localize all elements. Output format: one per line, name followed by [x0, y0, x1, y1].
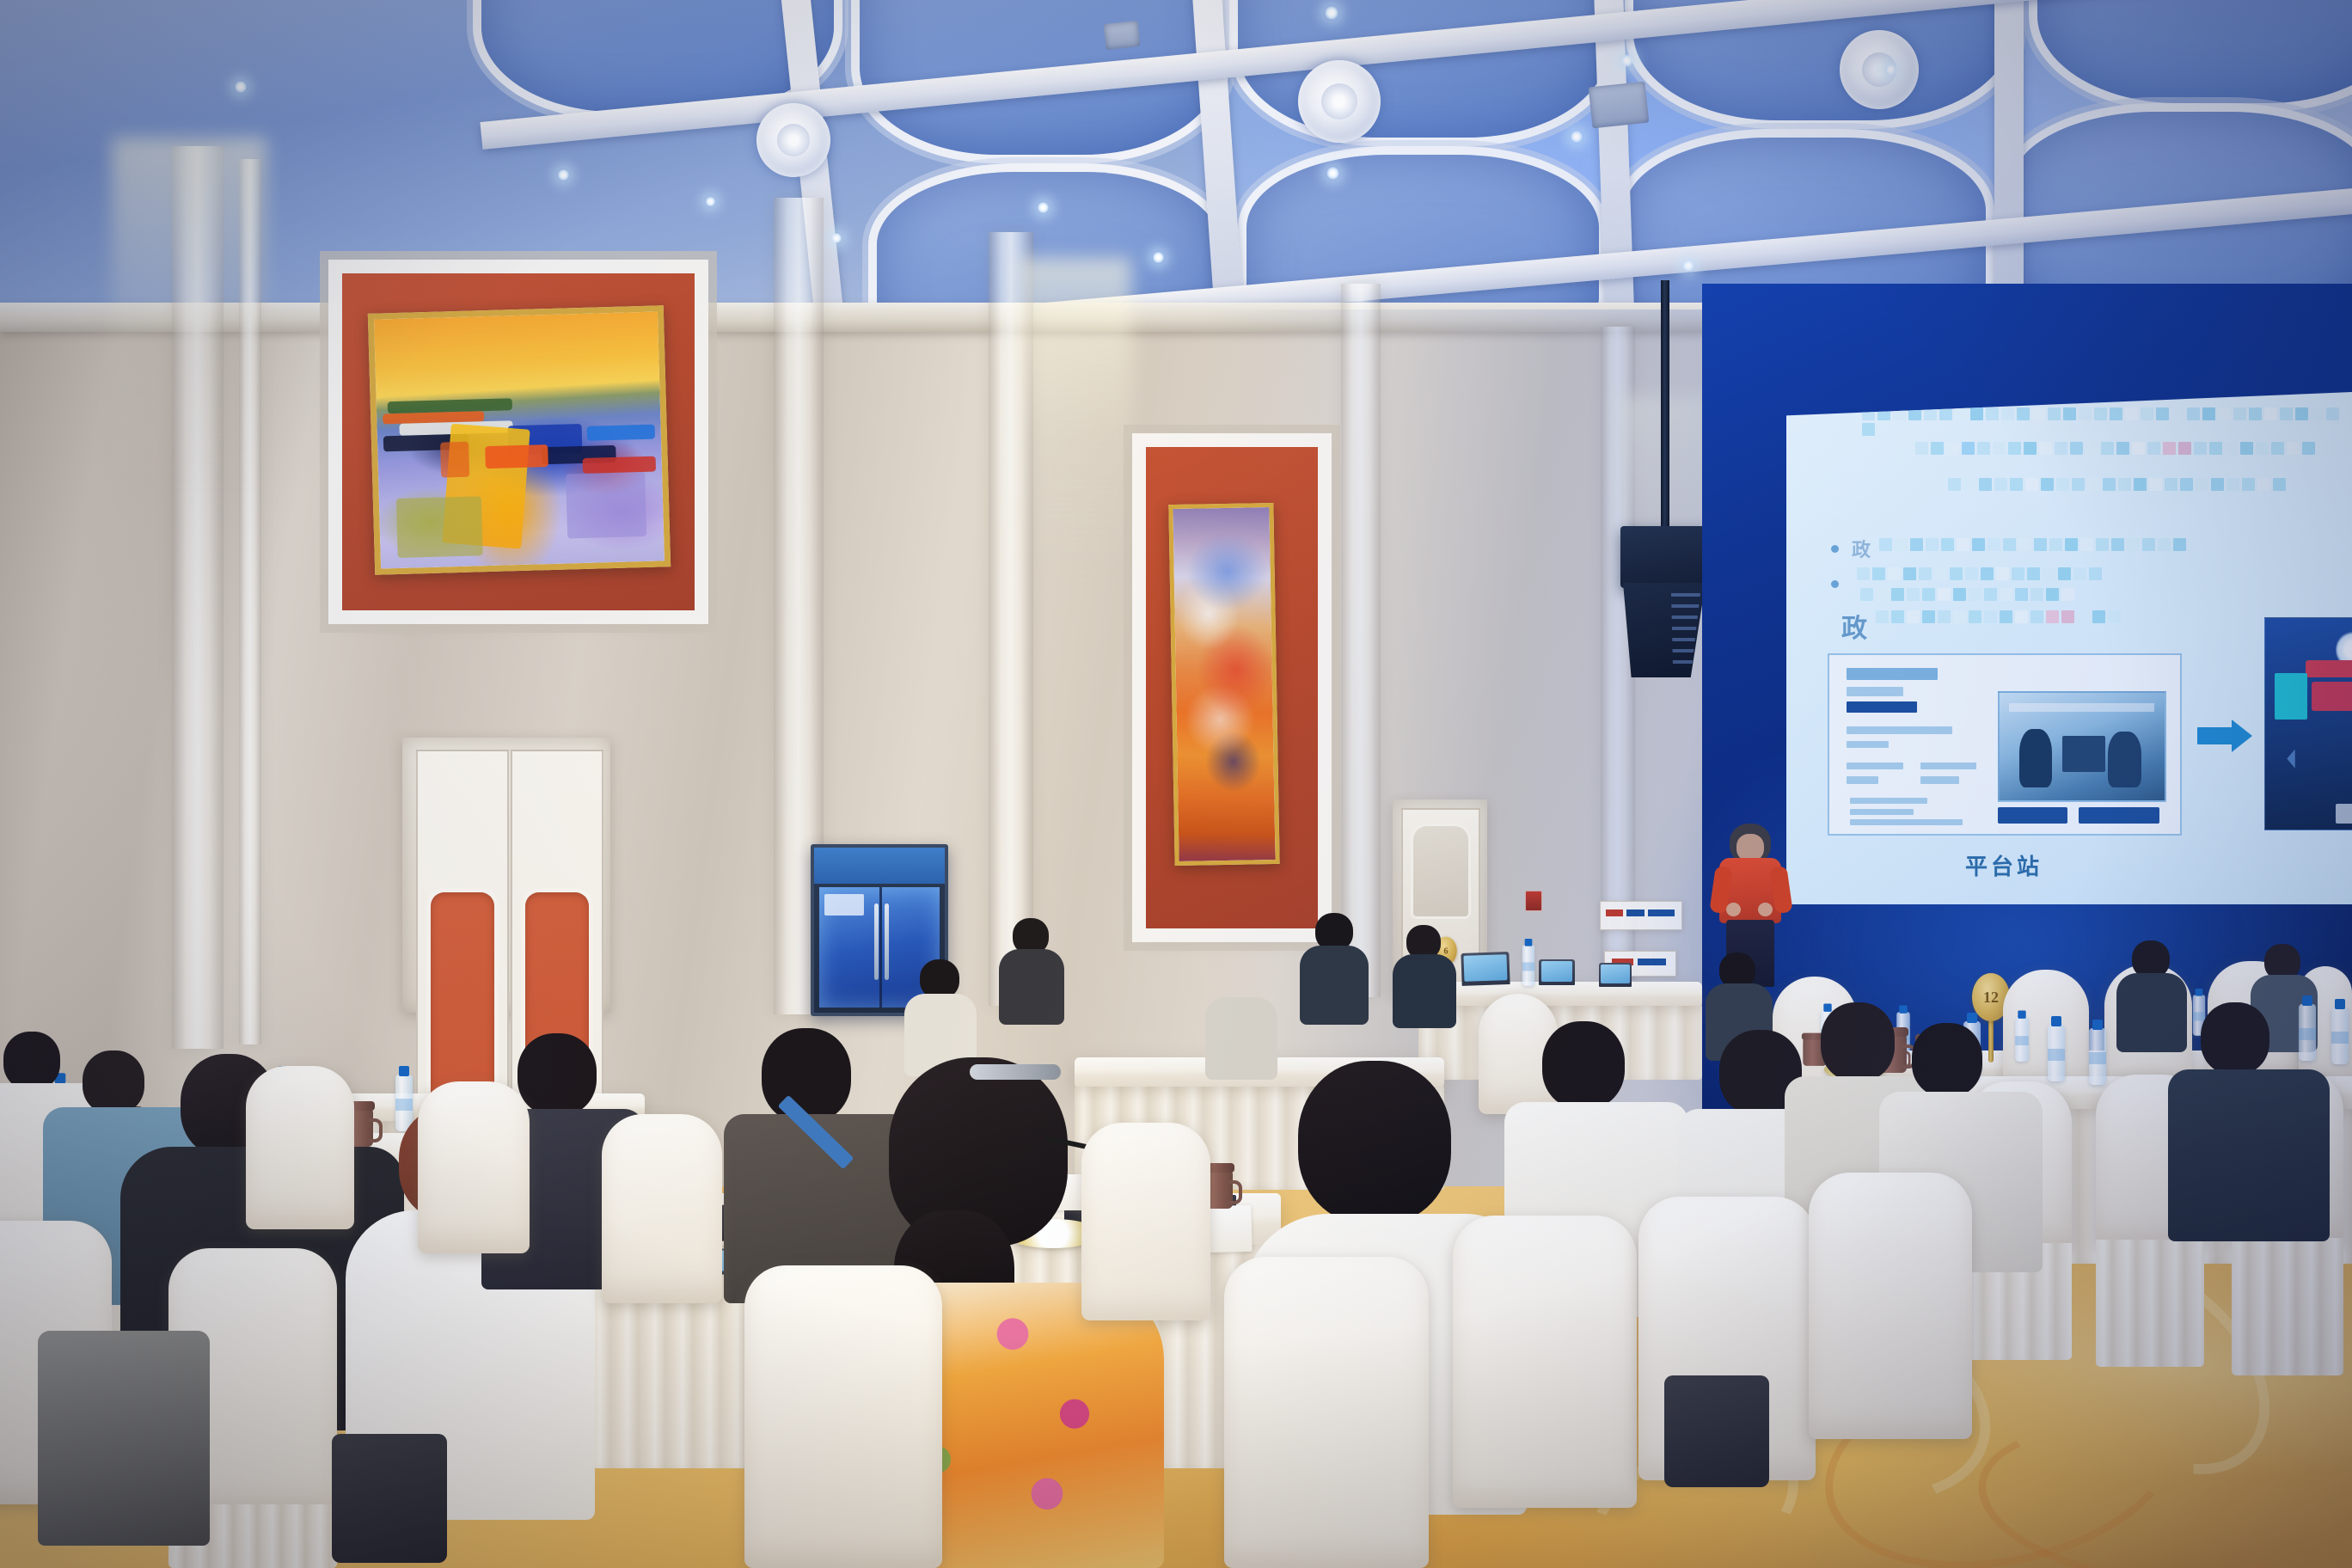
- ceiling-downlight: [1620, 53, 1634, 68]
- projection-screen: 政: [1786, 392, 2352, 904]
- water-bottle[interactable]: [2299, 1004, 2316, 1061]
- ceiling-speaker-grille: [1589, 82, 1650, 129]
- card-sub-text: [1847, 687, 1902, 695]
- ceiling-rosette: [756, 103, 830, 177]
- conference-hall-photo: 政: [0, 0, 2352, 1568]
- slide-headline-cn: 政: [1841, 607, 1867, 645]
- ceiling-line-array-speaker: [1661, 280, 1669, 538]
- fridge-header-band: [814, 848, 945, 884]
- water-bottle[interactable]: [2048, 1025, 2065, 1081]
- card-badge: [1847, 701, 1917, 712]
- person-head: [83, 1050, 144, 1114]
- card-list-item: [1850, 809, 1913, 815]
- water-bottle[interactable]: [1522, 945, 1534, 986]
- banquet-chair[interactable]: [602, 1114, 722, 1303]
- ceiling-rosette: [1840, 30, 1919, 109]
- slide-mosaic-line3: [1948, 478, 2326, 491]
- ceiling-downlight: [705, 196, 716, 207]
- water-bottle[interactable]: [2015, 1017, 2029, 1061]
- slide-mosaic-headline: [1876, 610, 2168, 623]
- card-list-item: [1850, 819, 1963, 825]
- chair-skirt: [2232, 1238, 2343, 1375]
- slide-mosaic-title: [1862, 407, 2343, 436]
- slide-button-details: [2079, 807, 2159, 824]
- person-torso: [1393, 954, 1456, 1028]
- table-number-label: 12: [1983, 989, 1999, 1007]
- water-bottle[interactable]: [395, 1075, 413, 1131]
- card-title-text: [1847, 668, 1938, 681]
- water-bottle[interactable]: [2331, 1008, 2349, 1064]
- person-head: [1821, 1002, 1895, 1081]
- banquet-chair[interactable]: [1224, 1257, 1429, 1568]
- person-head: [1298, 1061, 1451, 1224]
- door-panel-upper: [1413, 826, 1467, 917]
- av-laptop[interactable]: [1461, 952, 1510, 986]
- ceiling-downlight: [557, 168, 570, 181]
- table-number-label: 6: [1443, 946, 1448, 956]
- person-head: [1912, 1023, 1982, 1097]
- handbag[interactable]: [1664, 1375, 1769, 1487]
- wall-light-wash: [1020, 258, 1131, 585]
- ceiling-downlight: [1152, 251, 1165, 264]
- slide-arrow-shaft: [2197, 727, 2233, 744]
- painting-canvas-vertical: [1173, 507, 1275, 861]
- card-col-val: [1847, 776, 1878, 783]
- presenter-hand-left: [1726, 903, 1741, 916]
- presenter: [1704, 824, 1807, 987]
- person-torso: [2116, 973, 2187, 1052]
- fridge-door-divider: [879, 887, 882, 1008]
- ceiling-speaker-grille: [1104, 21, 1141, 50]
- person-head: [3, 1032, 60, 1090]
- ceiling-downlight: [830, 232, 842, 244]
- person-torso: [1300, 946, 1369, 1025]
- fridge-handle-icon[interactable]: [885, 903, 889, 979]
- person-head: [1542, 1021, 1625, 1109]
- ceiling-downlight: [1570, 130, 1583, 144]
- fridge-label-sticker: [824, 894, 864, 916]
- av-laptop[interactable]: [1599, 963, 1632, 987]
- banquet-chair[interactable]: [418, 1081, 530, 1253]
- abstract-landscape-painting: [368, 305, 671, 574]
- pa-speaker-body: [1620, 526, 1706, 588]
- banquet-chair[interactable]: [1453, 1216, 1637, 1508]
- av-laptop[interactable]: [1539, 959, 1575, 985]
- person-head: [518, 1033, 597, 1116]
- presenter-hand-right: [1758, 903, 1773, 916]
- ceiling-downlight: [234, 80, 248, 94]
- slide-button-book-now: [1998, 807, 2068, 824]
- ceiling-downlight: [1883, 62, 1898, 77]
- slide-bullet-2: [1831, 580, 1839, 588]
- handbag[interactable]: [332, 1434, 447, 1563]
- person-head: [2201, 1002, 2269, 1075]
- ceiling-downlight: [1324, 5, 1339, 21]
- ceiling-rosette: [1298, 60, 1381, 143]
- hair-clip: [970, 1064, 1061, 1080]
- banquet-chair[interactable]: [246, 1066, 354, 1229]
- slide-mosaic-bullet-1: [1879, 538, 2223, 551]
- card-line: [1847, 726, 1951, 733]
- person-head: [762, 1028, 851, 1123]
- person-torso: [999, 949, 1064, 1025]
- card-col-head: [1920, 763, 1976, 769]
- backpack-on-chair[interactable]: [38, 1331, 210, 1546]
- banquet-chair[interactable]: [1081, 1123, 1210, 1320]
- ceiling-downlight: [1326, 166, 1340, 181]
- slide-screenshot-left-photo: [1998, 691, 2166, 802]
- slide-mosaic-bullet-2: [1860, 588, 2118, 601]
- card-col-val: [1920, 776, 1959, 783]
- chair-skirt: [2096, 1240, 2204, 1367]
- person-torso: [1205, 997, 1277, 1080]
- person-torso: [2168, 1069, 2330, 1241]
- slide-arrow-head-icon: [2232, 720, 2252, 752]
- card-list-item: [1850, 798, 1927, 804]
- banquet-chair[interactable]: [744, 1265, 942, 1568]
- wall-light-wash: [112, 138, 266, 499]
- card-line: [1847, 741, 1889, 748]
- fridge-handle-icon[interactable]: [874, 903, 879, 979]
- ceiling-downlight: [1681, 259, 1695, 273]
- slide-bullet-1: [1831, 545, 1839, 553]
- water-bottle[interactable]: [2089, 1028, 2106, 1085]
- banquet-chair[interactable]: [1809, 1173, 1972, 1439]
- painting-canvas-landscape: [374, 311, 665, 568]
- fire-alarm-box[interactable]: [1525, 891, 1542, 911]
- card-col-head: [1847, 763, 1902, 769]
- slide-mosaic-bullet-1b: [1857, 567, 2141, 580]
- slide-screenshot-booking-card: [1828, 653, 2182, 836]
- slide-bullet-cn-1: 政: [1852, 535, 1871, 562]
- slide-mosaic-subtitle: [1915, 442, 2328, 455]
- slide-screenshot-mobile: [2264, 617, 2352, 830]
- slide-caption: 平台站: [1965, 849, 2043, 881]
- abstract-vertical-painting: [1168, 503, 1279, 866]
- ceiling-downlight: [1037, 201, 1050, 214]
